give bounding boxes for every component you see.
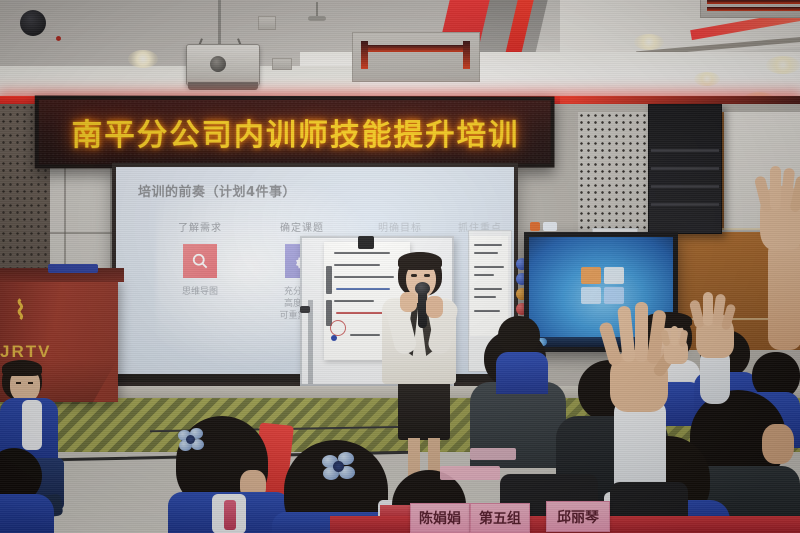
slide-column-3-header: 明确目标	[354, 219, 446, 234]
attendee-hair	[498, 316, 540, 356]
attendee-shirt	[22, 400, 42, 450]
name-card-group5: 第五组	[470, 503, 530, 533]
led-banner-text: 南平分公司内训师技能提升培训	[39, 100, 551, 165]
flipchart-clamp-icon	[358, 236, 374, 249]
attendee-eye	[28, 382, 33, 384]
presenter-hand-right	[426, 296, 443, 318]
display-badge	[543, 222, 557, 231]
podium-blue-folder	[48, 264, 98, 273]
attendee-neck-ribbon	[224, 500, 236, 530]
presenter-eye	[424, 274, 430, 277]
attendee-face-edge	[762, 424, 794, 464]
windows-logo-icon	[581, 267, 627, 307]
flipchart-red-circle-mark	[330, 320, 346, 336]
training-room-photo: 南平分公司内训师技能提升培训 培训的前奏（计划4件事） 了解需求 思维导图 确定…	[0, 0, 800, 533]
microphone-head-icon	[415, 282, 430, 295]
slide-column-1-caption: 思维导图	[154, 286, 246, 298]
led-banner-display: 南平分公司内训师技能提升培训	[35, 96, 555, 169]
slide-column-1: 了解需求 思维导图	[154, 219, 246, 298]
downlight	[634, 34, 664, 50]
ceiling-fixture-small	[258, 16, 276, 30]
downlight	[694, 72, 720, 86]
projector-mount-rod	[218, 0, 221, 46]
speaker-driver-icon	[20, 10, 46, 36]
name-card-chenjuanjuan: 陈娟娟	[410, 503, 470, 533]
air-vent-icon	[352, 32, 480, 82]
whiteboard-clip	[300, 306, 310, 313]
attendee-uniform-vest	[0, 494, 54, 533]
slide-column-1-header: 了解需求	[154, 219, 246, 234]
projector-lens-icon	[210, 56, 226, 72]
podium-logo-icon: ⌇	[14, 296, 50, 324]
attendee-hair-front	[2, 360, 42, 376]
display-indicator-icon	[530, 222, 540, 231]
presenter-hair-front	[398, 252, 442, 270]
name-card-distant-2	[470, 448, 516, 460]
presenter-hand-left	[400, 292, 417, 312]
name-card-label: 陈娟娟	[419, 508, 461, 528]
air-vent-icon	[700, 0, 800, 18]
slide-title: 培训的前奏（计划4件事）	[138, 181, 296, 200]
flipchart-blue-magnet	[331, 335, 337, 341]
line-array-speaker	[648, 104, 722, 234]
name-card-label: 邱丽琴	[557, 507, 599, 527]
attendee-uniform-vest	[496, 352, 548, 394]
downlight	[128, 50, 158, 68]
presenter-eye	[411, 274, 417, 277]
name-card-label: 第五组	[479, 508, 521, 528]
flower-hair-ornament	[178, 428, 204, 452]
sprinkler-head	[308, 16, 326, 21]
flower-hair-ornament	[322, 452, 356, 482]
name-card-qiuliqin: 邱丽琴	[546, 501, 610, 532]
speaker-power-led	[56, 36, 61, 41]
magnifier-icon	[183, 244, 217, 278]
slide-column-2-header: 确定课题	[256, 219, 348, 234]
name-card-distant	[440, 466, 500, 480]
attendee-eye	[16, 382, 21, 384]
presenter-skirt	[398, 378, 450, 440]
ceiling-fixture-small-2	[272, 58, 292, 70]
slide-column-3: 明确目标	[354, 219, 446, 234]
flipchart-paper-right	[470, 236, 508, 336]
projector-base	[188, 82, 258, 90]
downlight	[766, 56, 800, 74]
